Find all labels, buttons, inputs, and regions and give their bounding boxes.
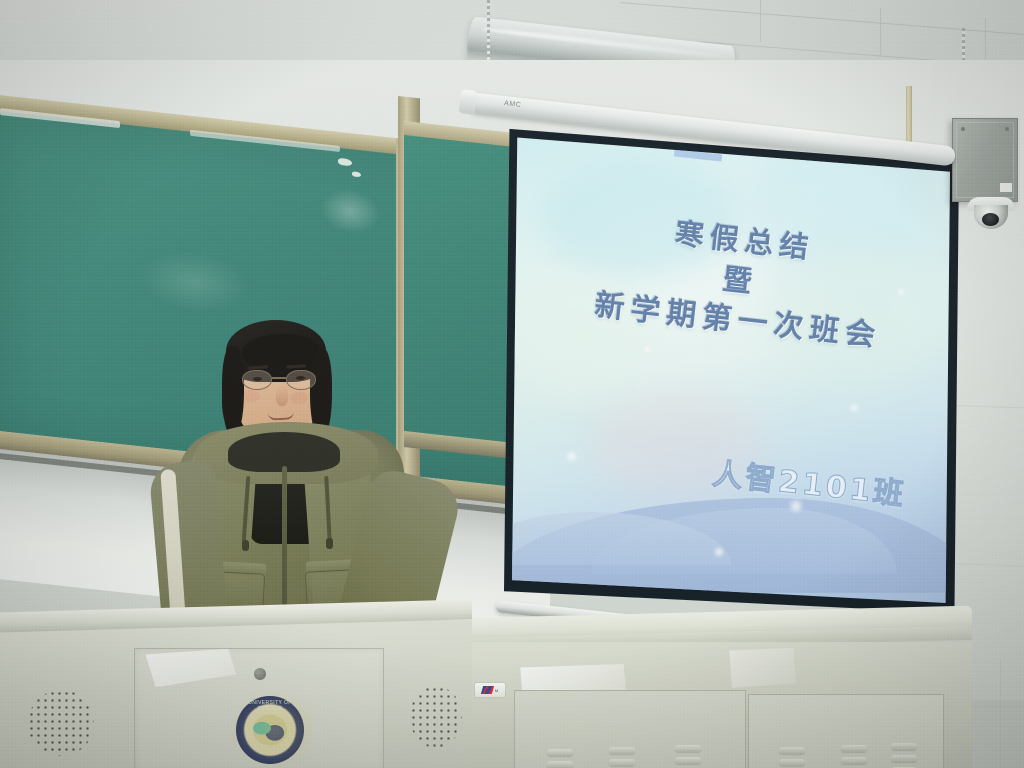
cabinet-body: M xyxy=(452,642,972,768)
tape-patch xyxy=(728,648,796,688)
louver-vent xyxy=(547,761,573,768)
podium-lock-knob[interactable] xyxy=(254,668,266,680)
louver-vent xyxy=(841,745,867,752)
paint-chip xyxy=(352,171,361,177)
cabinet-brand-label: M xyxy=(474,682,506,698)
cheek xyxy=(242,390,260,402)
seal-text: UNIVERSITY OF SCIENCE xyxy=(238,700,302,764)
slide-class-label: 人智2101班 xyxy=(711,449,909,514)
drawcord-tip-left xyxy=(242,540,249,551)
box-screw xyxy=(961,127,965,131)
projection-screen: 寒假总结 暨 新学期第一次班会 人智2101班 xyxy=(504,118,959,613)
louver-vent xyxy=(891,755,917,762)
screen-brand-label: AMC xyxy=(504,100,522,109)
slide-title-block: 寒假总结 暨 新学期第一次班会 xyxy=(516,198,950,366)
glasses-lens-right xyxy=(286,370,316,390)
wall-tile-seam xyxy=(1000,660,1001,768)
eye-right xyxy=(296,376,305,380)
chalk-smudge xyxy=(320,186,380,237)
brand-mark-icon xyxy=(481,686,494,694)
box-label xyxy=(1000,183,1012,192)
cabinet-door-right[interactable] xyxy=(748,694,944,768)
eye-left xyxy=(253,377,262,381)
ceiling-grid-line xyxy=(985,18,986,62)
louver-vent xyxy=(675,745,701,752)
louver-vent xyxy=(609,747,635,754)
presenter-person xyxy=(150,318,450,638)
camera-lens xyxy=(982,213,999,226)
louver-vent xyxy=(609,759,635,766)
speaker-grille-right xyxy=(410,686,462,748)
nose xyxy=(276,386,288,406)
projected-slide: 寒假总结 暨 新学期第一次班会 人智2101班 xyxy=(512,126,950,603)
ceiling-grid-line xyxy=(760,0,761,42)
louver-vent xyxy=(547,749,573,756)
ceiling-grid-line xyxy=(880,8,881,56)
louver-vent xyxy=(841,757,867,764)
louver-vent xyxy=(891,743,917,750)
glasses-bridge xyxy=(272,377,286,379)
jacket-zipper xyxy=(282,466,287,626)
housing-endcap xyxy=(459,89,478,115)
box-screw xyxy=(1005,127,1009,131)
cheek xyxy=(290,392,308,404)
classroom-photo: AMC 寒假总结 暨 新学期第一次班会 xyxy=(0,0,1024,768)
drawcord-tip-right xyxy=(326,538,333,549)
cabinet-door-left[interactable] xyxy=(514,690,746,768)
speaker-grille-left xyxy=(28,690,94,756)
dome-camera-icon xyxy=(967,197,1015,231)
louver-vent xyxy=(779,747,805,754)
university-seal-sticker: UNIVERSITY OF SCIENCE xyxy=(228,690,312,768)
electrical-box xyxy=(952,118,1018,202)
louver-vent xyxy=(675,757,701,764)
louver-vent xyxy=(779,759,805,766)
brand-label-text: M xyxy=(495,688,498,693)
slide-text-layer: 寒假总结 暨 新学期第一次班会 人智2101班 xyxy=(512,126,950,603)
paint-chip xyxy=(338,158,352,167)
metal-cabinet[interactable]: M xyxy=(452,612,972,768)
chalk-smudge xyxy=(140,246,250,318)
